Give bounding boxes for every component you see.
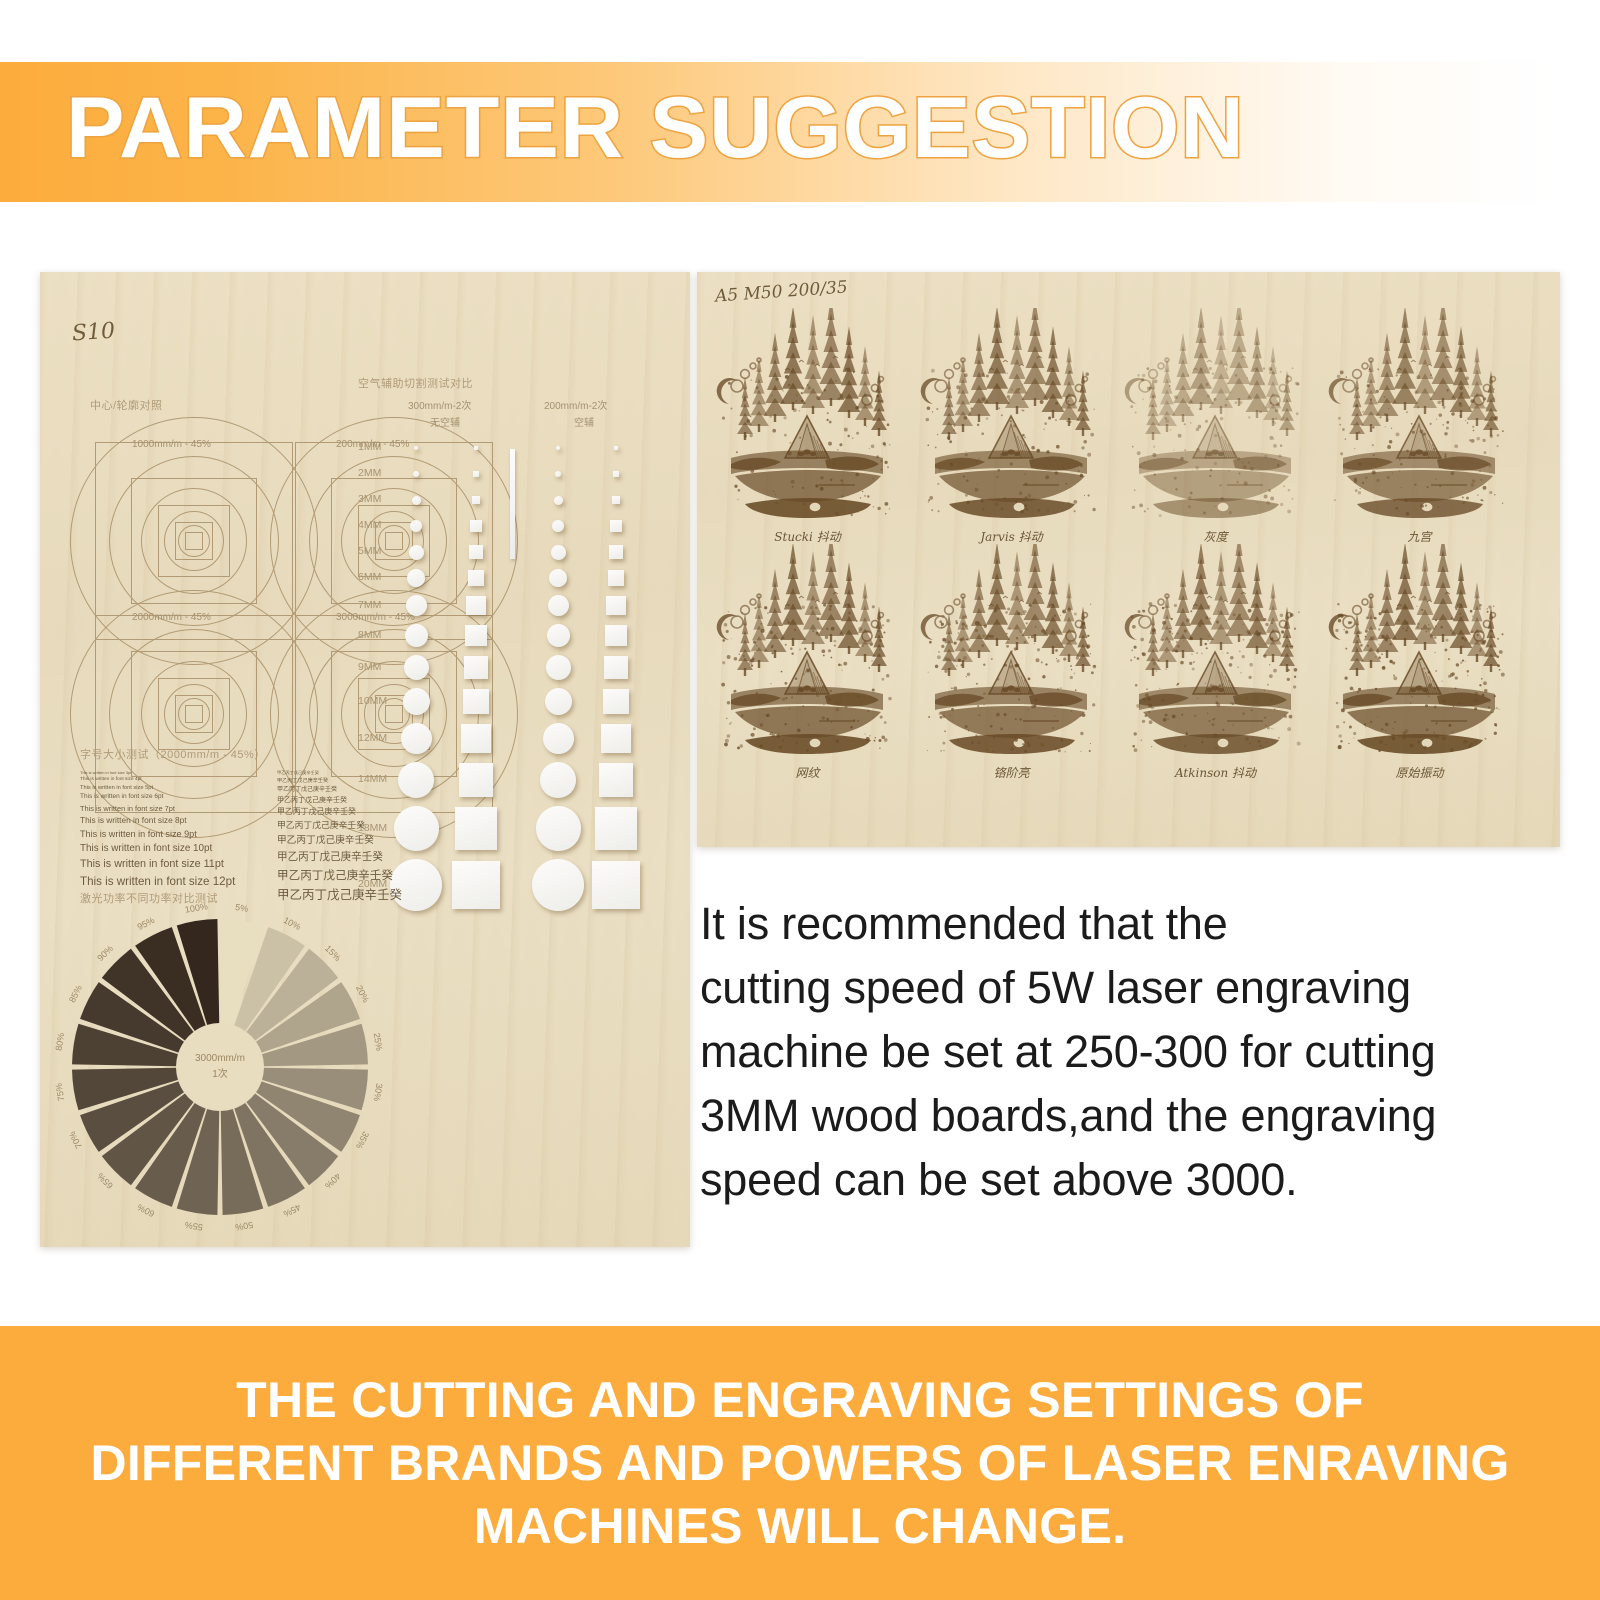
cut-sample-square bbox=[452, 861, 501, 910]
wheel-passes: 1次 bbox=[212, 1067, 228, 1083]
engraved-artwork bbox=[1327, 308, 1512, 523]
cut-col-speed-1: 200mm/m-2次 bbox=[544, 397, 607, 412]
cut-sample-square bbox=[605, 625, 627, 647]
engraved-art-cell: 铬阶亮 bbox=[919, 544, 1104, 759]
cut-sample-circle bbox=[403, 688, 430, 715]
power-wheel-percent-label: 5% bbox=[234, 902, 248, 914]
cut-sample-square bbox=[609, 545, 623, 559]
engraved-art-cell: Jarvis 抖动 bbox=[919, 308, 1104, 523]
cut-sample-square bbox=[461, 724, 490, 753]
cut-sample-circle bbox=[405, 624, 428, 647]
cut-sample-square bbox=[469, 545, 483, 559]
font-size-sample-cn-line: 甲乙丙丁戊己庚辛壬癸 bbox=[277, 785, 427, 795]
cut-row-label: 12MM bbox=[358, 732, 404, 744]
cut-sample-square bbox=[472, 496, 480, 504]
engraved-art-cell: 灰度 bbox=[1123, 308, 1308, 523]
cut-row-label: 9MM bbox=[358, 661, 404, 673]
laser-power-test-wheel: 3000mm/m 1次 5%10%15%20%25%30%35%40%45%50… bbox=[65, 912, 375, 1222]
cut-sample-square bbox=[614, 446, 618, 450]
font-test-heading: 字号大小测试（2000mm/m - 45%） bbox=[80, 746, 266, 762]
cut-row-label: 3MM bbox=[358, 493, 404, 505]
engraved-art-caption: 灰度 bbox=[1123, 528, 1308, 545]
font-size-sample-cn-line: 甲乙丙丁戊己庚辛壬癸 bbox=[277, 777, 427, 785]
cut-sample-square bbox=[473, 471, 479, 477]
cut-sample-circle bbox=[551, 545, 566, 560]
cut-sample-circle bbox=[532, 859, 584, 911]
cut-sample-circle bbox=[545, 688, 572, 715]
recommendation-line: cutting speed of 5W laser engraving bbox=[700, 956, 1560, 1020]
footer-banner: THE CUTTING AND ENGRAVING SETTINGS OFDIF… bbox=[0, 1326, 1600, 1600]
page-title: PARAMETER SUGGESTION bbox=[66, 58, 1245, 198]
cut-sample-square bbox=[470, 520, 481, 531]
target-label: 1000mm/m - 45% bbox=[132, 439, 211, 450]
board-hand-label: S10 bbox=[71, 319, 116, 347]
cut-col-air-0: 无空辅 bbox=[430, 414, 460, 429]
cut-sample-square bbox=[613, 471, 619, 477]
font-size-sample-cn-line: 甲乙丙丁戊己庚辛壬癸 bbox=[277, 806, 427, 819]
font-size-sample-cn-line: 甲乙丙丁戊己庚辛壬癸 bbox=[277, 833, 427, 849]
engraved-art-caption: Stucki 抖动 bbox=[715, 528, 900, 545]
cut-sample-square bbox=[603, 689, 628, 714]
engraved-art-cell: 网纹 bbox=[715, 544, 900, 759]
font-size-sample-cn-line: 甲乙丙丁戊己庚辛壬癸 bbox=[277, 795, 427, 806]
right-board-hand-label: A5 M50 200/35 bbox=[714, 277, 848, 306]
engraved-art-caption: 网纹 bbox=[715, 764, 900, 781]
cut-sample-square bbox=[610, 520, 621, 531]
cut-sample-circle bbox=[413, 471, 419, 477]
font-size-sample-cn-line: 甲乙丙丁戊己庚辛壬癸 bbox=[277, 770, 427, 777]
target-label: 2000mm/m - 45% bbox=[132, 612, 211, 623]
cut-sample-square bbox=[604, 656, 628, 680]
recommendation-paragraph: It is recommended that thecutting speed … bbox=[700, 892, 1560, 1211]
power-wheel-percent-label: 50% bbox=[235, 1220, 254, 1233]
engraved-art-comparison-board: A5 M50 200/35 Stucki 抖动Jarvis 抖动灰度九宫网纹铬阶… bbox=[697, 272, 1560, 847]
cut-sample-circle bbox=[552, 520, 564, 532]
footer-line: THE CUTTING AND ENGRAVING SETTINGS OF bbox=[35, 1369, 1565, 1432]
cut-sample-square bbox=[459, 763, 493, 797]
cut-col-air-1: 空辅 bbox=[574, 414, 594, 429]
footer-disclaimer-text: THE CUTTING AND ENGRAVING SETTINGS OFDIF… bbox=[35, 1369, 1565, 1558]
cut-sample-circle bbox=[401, 723, 432, 754]
cut-sample-circle bbox=[546, 655, 571, 680]
engraved-art-caption: Atkinson 抖动 bbox=[1123, 764, 1308, 781]
footer-line: MACHINES WILL CHANGE. bbox=[35, 1495, 1565, 1558]
cut-sample-square bbox=[463, 689, 488, 714]
cut-grid-divider bbox=[510, 449, 515, 559]
font-size-sample-cn-line: 甲乙丙丁戊己庚辛壬癸 bbox=[277, 866, 427, 885]
cut-sample-square bbox=[595, 807, 637, 849]
engraved-art-cell: 九宫 bbox=[1327, 308, 1512, 523]
target-test-heading: 中心/轮廓对照 bbox=[90, 397, 163, 413]
cut-sample-square bbox=[464, 656, 488, 680]
cut-row-label: 2MM bbox=[358, 467, 404, 479]
cut-sample-circle bbox=[555, 471, 561, 477]
recommendation-line: It is recommended that the bbox=[700, 892, 1560, 956]
cut-sample-circle bbox=[412, 496, 421, 505]
cut-sample-circle bbox=[540, 762, 576, 798]
font-size-sample-cn-line: 甲乙丙丁戊己庚辛壬癸 bbox=[277, 819, 427, 833]
cut-sample-circle bbox=[548, 595, 569, 616]
font-size-test-cn-lines: 甲乙丙丁戊己庚辛壬癸甲乙丙丁戊己庚辛壬癸甲乙丙丁戊己庚辛壬癸甲乙丙丁戊己庚辛壬癸… bbox=[277, 770, 427, 905]
cut-grid-heading: 空气辅助切割测试对比 bbox=[358, 375, 473, 391]
cut-sample-square bbox=[455, 807, 497, 849]
cut-sample-circle bbox=[404, 655, 429, 680]
cut-sample-circle bbox=[410, 520, 422, 532]
cut-sample-square bbox=[468, 570, 485, 587]
engraved-artwork bbox=[1123, 308, 1308, 523]
engraved-art-caption: Jarvis 抖动 bbox=[919, 528, 1104, 545]
cut-sample-circle bbox=[549, 569, 567, 587]
engraved-artwork bbox=[1327, 544, 1512, 759]
cut-col-speed-0: 300mm/m-2次 bbox=[408, 397, 471, 412]
cut-sample-circle bbox=[414, 446, 418, 450]
engraved-artwork bbox=[715, 544, 900, 759]
cut-sample-circle bbox=[556, 446, 560, 450]
cut-sample-square bbox=[606, 596, 626, 616]
power-wheel-center-label: 3000mm/m 1次 bbox=[177, 1024, 263, 1110]
cut-sample-square bbox=[592, 861, 641, 910]
cut-sample-circle bbox=[407, 569, 425, 587]
cut-sample-circle bbox=[554, 496, 563, 505]
footer-line: DIFFERENT BRANDS AND POWERS OF LASER ENR… bbox=[35, 1432, 1565, 1495]
cut-sample-square bbox=[465, 625, 487, 647]
cut-sample-square bbox=[612, 496, 620, 504]
cut-sample-circle bbox=[547, 624, 570, 647]
engraved-artwork bbox=[919, 544, 1104, 759]
cut-sample-circle bbox=[409, 545, 424, 560]
engraved-art-cell: Stucki 抖动 bbox=[715, 308, 900, 523]
cut-row-label: 4MM bbox=[358, 519, 404, 531]
cut-row-label: 8MM bbox=[358, 629, 404, 641]
engraved-artwork bbox=[715, 308, 900, 523]
engraved-art-cell: Atkinson 抖动 bbox=[1123, 544, 1308, 759]
power-wheel-percent-label: 55% bbox=[184, 1220, 203, 1233]
cut-sample-circle bbox=[536, 806, 581, 851]
power-wheel-percent-label: 30% bbox=[372, 1083, 385, 1102]
cut-sample-square bbox=[608, 570, 625, 587]
recommendation-line: 3MM wood boards,and the engraving bbox=[700, 1084, 1560, 1148]
cut-sample-circle bbox=[406, 595, 427, 616]
wheel-speed: 3000mm/m bbox=[195, 1051, 245, 1067]
cut-sample-square bbox=[601, 724, 630, 753]
cut-sample-circle bbox=[543, 723, 574, 754]
cut-row-label: 10MM bbox=[358, 695, 404, 707]
engraved-artwork bbox=[919, 308, 1104, 523]
cut-row-label: 5MM bbox=[358, 545, 404, 557]
engraved-art-cell: 原始振动 bbox=[1327, 544, 1512, 759]
laser-parameter-test-board: S10 中心/轮廓对照 1000mm/m - 45% bbox=[40, 272, 690, 1247]
font-size-sample-cn-line: 甲乙丙丁戊己庚辛壬癸 bbox=[277, 885, 427, 905]
cut-row-label: 6MM bbox=[358, 571, 404, 583]
engraved-art-caption: 铬阶亮 bbox=[919, 764, 1104, 781]
engraved-artwork bbox=[1123, 544, 1308, 759]
power-wheel-percent-label: 25% bbox=[372, 1032, 385, 1051]
cut-row-label: 7MM bbox=[358, 599, 404, 611]
cut-sample-square bbox=[599, 763, 633, 797]
header-banner: PARAMETER SUGGESTION bbox=[0, 62, 1600, 202]
cut-row-label: 1MM bbox=[358, 441, 404, 453]
recommendation-line: speed can be set above 3000. bbox=[700, 1148, 1560, 1212]
engraved-art-caption: 原始振动 bbox=[1327, 764, 1512, 781]
cut-sample-square bbox=[474, 446, 478, 450]
main-content: S10 中心/轮廓对照 1000mm/m - 45% bbox=[0, 202, 1600, 1322]
recommendation-line: machine be set at 250-300 for cutting bbox=[700, 1020, 1560, 1084]
cut-sample-square bbox=[466, 596, 486, 616]
engraved-art-caption: 九宫 bbox=[1327, 528, 1512, 545]
font-size-sample-cn-line: 甲乙丙丁戊己庚辛壬癸 bbox=[277, 849, 427, 866]
